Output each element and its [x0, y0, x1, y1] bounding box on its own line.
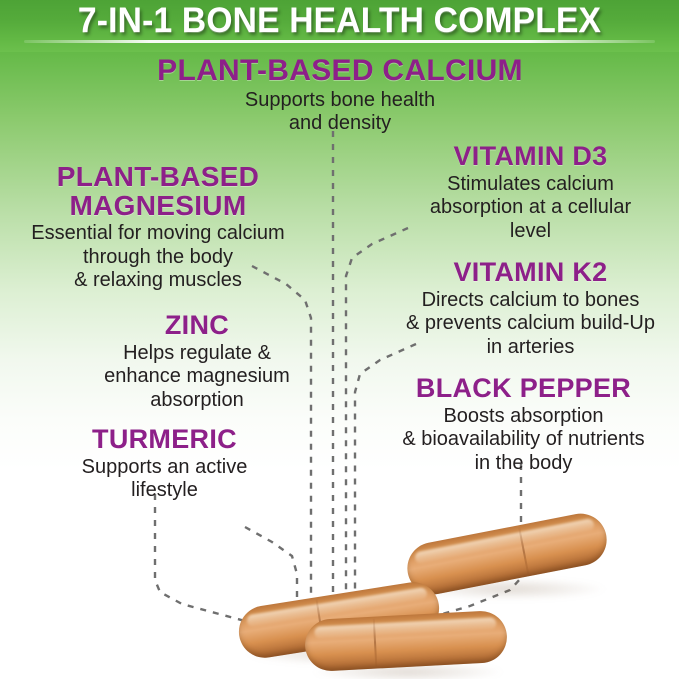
capsule-group: [0, 0, 679, 679]
bone-health-infographic: 7-IN-1 BONE HEALTH COMPLEX PLANT-BASED C…: [0, 0, 679, 679]
orange-capsule: [304, 610, 508, 673]
